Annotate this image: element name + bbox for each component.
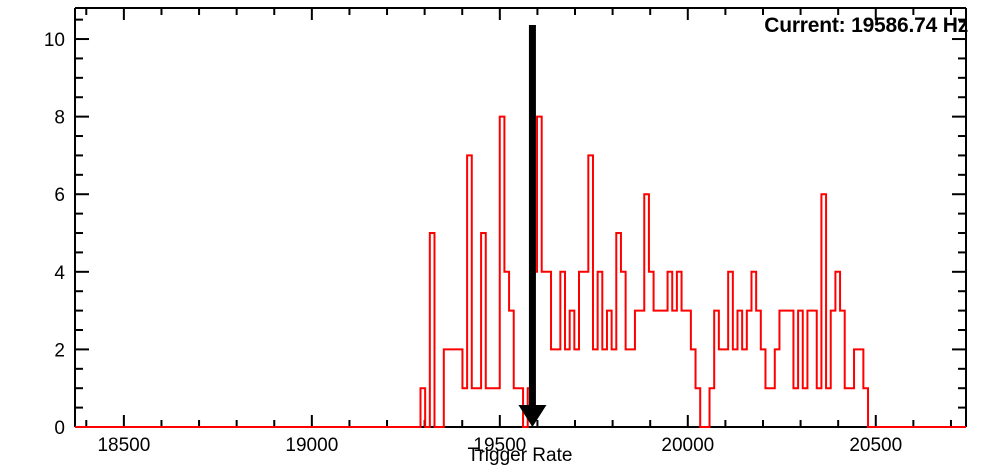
y-tick-label: 10 [44,30,65,51]
y-tick-label: 6 [54,185,65,206]
plot-canvas: 1850019000195002000020500 0246810 Trigge… [0,0,996,472]
y-axis-tick-labels: 0246810 [44,30,66,439]
y-tick-label: 2 [54,340,65,361]
x-tick-label: 18500 [97,435,150,456]
x-tick-label: 19000 [285,435,338,456]
current-rate-readout: Current: 19586.74 Hz [764,14,968,38]
y-tick-label: 0 [54,418,65,439]
y-axis-ticks [75,20,966,427]
x-tick-label: 20000 [661,435,714,456]
y-tick-label: 4 [54,263,65,284]
trigger-rate-histogram: 1850019000195002000020500 0246810 Trigge… [0,0,996,472]
histogram-series [75,117,966,427]
y-tick-label: 8 [54,108,65,129]
x-tick-label: 20500 [849,435,902,456]
plot-frame [75,8,966,427]
x-axis-title: Trigger Rate [468,445,573,466]
